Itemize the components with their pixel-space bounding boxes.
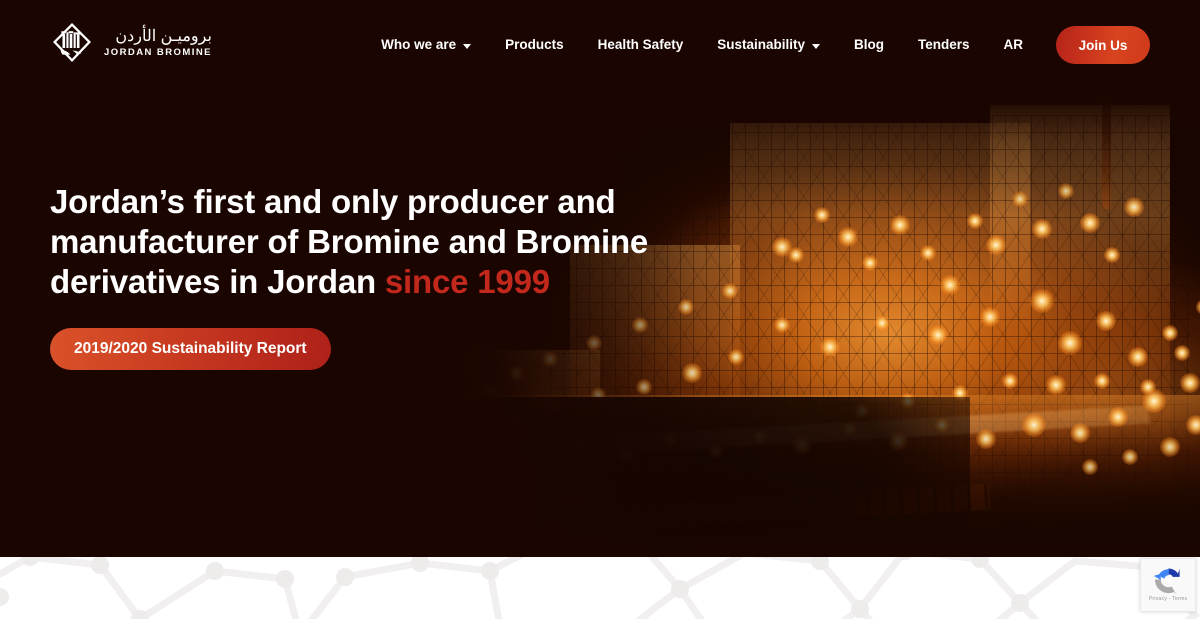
hexagon-molecule-pattern-icon [0,557,1200,619]
nav-item-who-we-are[interactable]: Who we are [364,24,488,66]
lower-section: Privacy - Terms [0,557,1200,619]
headline-line-1: Jordan’s first and only producer and [50,183,616,220]
nav-item-tenders[interactable]: Tenders [901,24,987,66]
nav-label: Blog [854,24,884,66]
logo-wordmark: بروميـن الأردن JORDAN BROMINE [104,29,212,58]
site-logo[interactable]: بروميـن الأردن JORDAN BROMINE [50,21,212,65]
nav-item-sustainability[interactable]: Sustainability [700,24,837,66]
headline-line-2: manufacturer of Bromine and Bromine [50,223,648,260]
logo-english-text: JORDAN BROMINE [104,48,212,58]
jordan-bromine-diamond-logo-icon [50,21,94,65]
join-us-button[interactable]: Join Us [1056,26,1150,64]
recaptcha-privacy-terms-label: Privacy - Terms [1149,596,1188,602]
nav-label: Who we are [381,24,456,66]
recaptcha-badge[interactable]: Privacy - Terms [1140,558,1196,612]
sustainability-report-button[interactable]: 2019/2020 Sustainability Report [50,328,331,370]
nav-item-blog[interactable]: Blog [837,24,901,66]
recaptcha-logo-icon [1153,564,1184,595]
nav-item-products[interactable]: Products [488,24,581,66]
nav-label: AR [1004,24,1024,66]
nav-item-ar-language[interactable]: AR [987,24,1041,66]
chevron-down-icon [463,44,471,49]
chevron-down-icon [812,44,820,49]
nav-label: Health Safety [598,24,684,66]
headline-line-3: derivatives in Jordan [50,263,385,300]
nav-label: Tenders [918,24,970,66]
nav-item-health-safety[interactable]: Health Safety [581,24,701,66]
main-navigation: Who we are Products Health Safety Sustai… [364,24,1150,66]
hero-content: Jordan’s first and only producer and man… [50,182,650,370]
headline-accent: since 1999 [385,263,550,300]
logo-arabic-text: بروميـن الأردن [115,29,212,45]
site-header: بروميـن الأردن JORDAN BROMINE Who we are… [0,0,1200,90]
nav-label: Sustainability [717,24,805,66]
hero-headline: Jordan’s first and only producer and man… [50,182,650,302]
nav-label: Products [505,24,564,66]
hero-section: بروميـن الأردن JORDAN BROMINE Who we are… [0,0,1200,557]
